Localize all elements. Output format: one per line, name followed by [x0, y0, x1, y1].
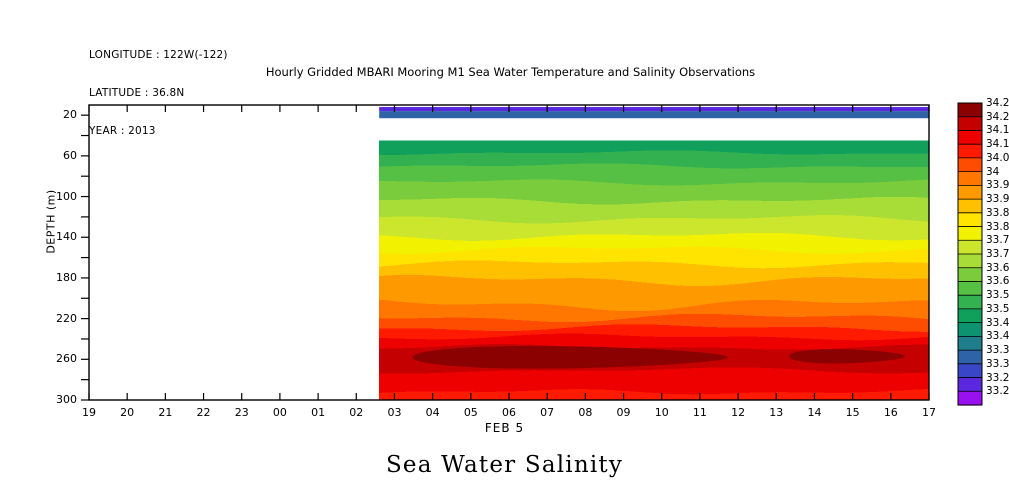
colorbar-tick-label: 33.25 — [986, 372, 1009, 384]
x-tick-label: 17 — [913, 406, 945, 419]
x-tick-label: 19 — [73, 406, 105, 419]
x-axis-label: FEB 5 — [0, 421, 1009, 435]
colorbar-tick-label: 33.4 — [986, 330, 1009, 342]
colorbar-tick-label: 33.75 — [986, 234, 1009, 246]
colorbar-tick-label: 34.1 — [986, 138, 1009, 150]
x-tick-label: 05 — [455, 406, 487, 419]
colorbar-tick-label: 33.85 — [986, 207, 1009, 219]
y-tick-label: 300 — [27, 393, 77, 406]
x-tick-label: 16 — [875, 406, 907, 419]
colorbar-tick-label: 34.2 — [986, 111, 1009, 123]
colorbar-tick-label: 33.8 — [986, 221, 1009, 233]
colorbar-tick-label: 33.55 — [986, 289, 1009, 301]
x-tick-label: 02 — [340, 406, 372, 419]
colorbar-tick-label: 33.3 — [986, 358, 1009, 370]
colorbar-tick-label: 33.5 — [986, 303, 1009, 315]
colorbar-tick-label: 34.05 — [986, 152, 1009, 164]
x-tick-label: 00 — [264, 406, 296, 419]
y-axis-label: DEPTH (m) — [45, 162, 58, 282]
colorbar-tick-label: 33.45 — [986, 317, 1009, 329]
colorbar-tick-label: 33.35 — [986, 344, 1009, 356]
x-tick-label: 07 — [531, 406, 563, 419]
x-tick-label: 04 — [417, 406, 449, 419]
x-tick-label: 20 — [111, 406, 143, 419]
contour-field — [379, 107, 933, 400]
figure-caption: Sea Water Salinity — [0, 452, 1009, 478]
x-tick-label: 03 — [378, 406, 410, 419]
colorbar-tick-label: 33.6 — [986, 275, 1009, 287]
x-tick-label: 21 — [149, 406, 181, 419]
x-tick-label: 13 — [760, 406, 792, 419]
colorbar-tick-label: 33.65 — [986, 262, 1009, 274]
x-tick-label: 09 — [608, 406, 640, 419]
colorbar-tick-label: 33.9 — [986, 193, 1009, 205]
x-tick-label: 06 — [493, 406, 525, 419]
x-tick-label: 11 — [684, 406, 716, 419]
x-tick-label: 22 — [188, 406, 220, 419]
x-tick-label: 10 — [646, 406, 678, 419]
y-tick-label: 260 — [27, 352, 77, 365]
colorbar-tick-label: 34.15 — [986, 124, 1009, 136]
x-tick-label: 15 — [837, 406, 869, 419]
y-tick-label: 60 — [27, 149, 77, 162]
colorbar-tick-label: 33.7 — [986, 248, 1009, 260]
x-tick-label: 23 — [226, 406, 258, 419]
x-tick-label: 01 — [302, 406, 334, 419]
x-axis-label-text: FEB 5 — [485, 421, 524, 435]
colorbar-tick-label: 34 — [986, 166, 999, 178]
colorbar-tick-label: 34.25 — [986, 97, 1009, 109]
colorbar-tick-label: 33.95 — [986, 179, 1009, 191]
x-tick-label: 14 — [798, 406, 830, 419]
y-tick-label: 20 — [27, 108, 77, 121]
x-tick-label: 12 — [722, 406, 754, 419]
x-tick-label: 08 — [569, 406, 601, 419]
y-tick-label: 220 — [27, 312, 77, 325]
colorbar-tick-label: 33.2 — [986, 385, 1009, 397]
